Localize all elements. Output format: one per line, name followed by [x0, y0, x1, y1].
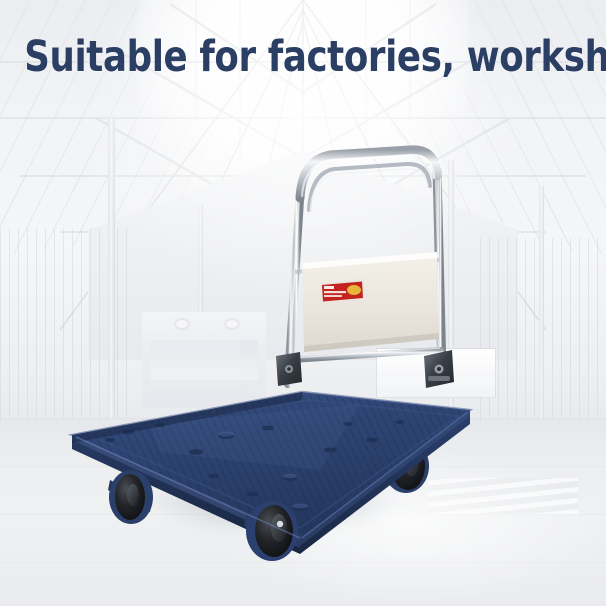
cart-ground-shadow — [92, 452, 452, 548]
product-image: Suitable for factories, workshops — [0, 0, 606, 606]
page-title: Suitable for factories, workshops — [24, 36, 582, 79]
